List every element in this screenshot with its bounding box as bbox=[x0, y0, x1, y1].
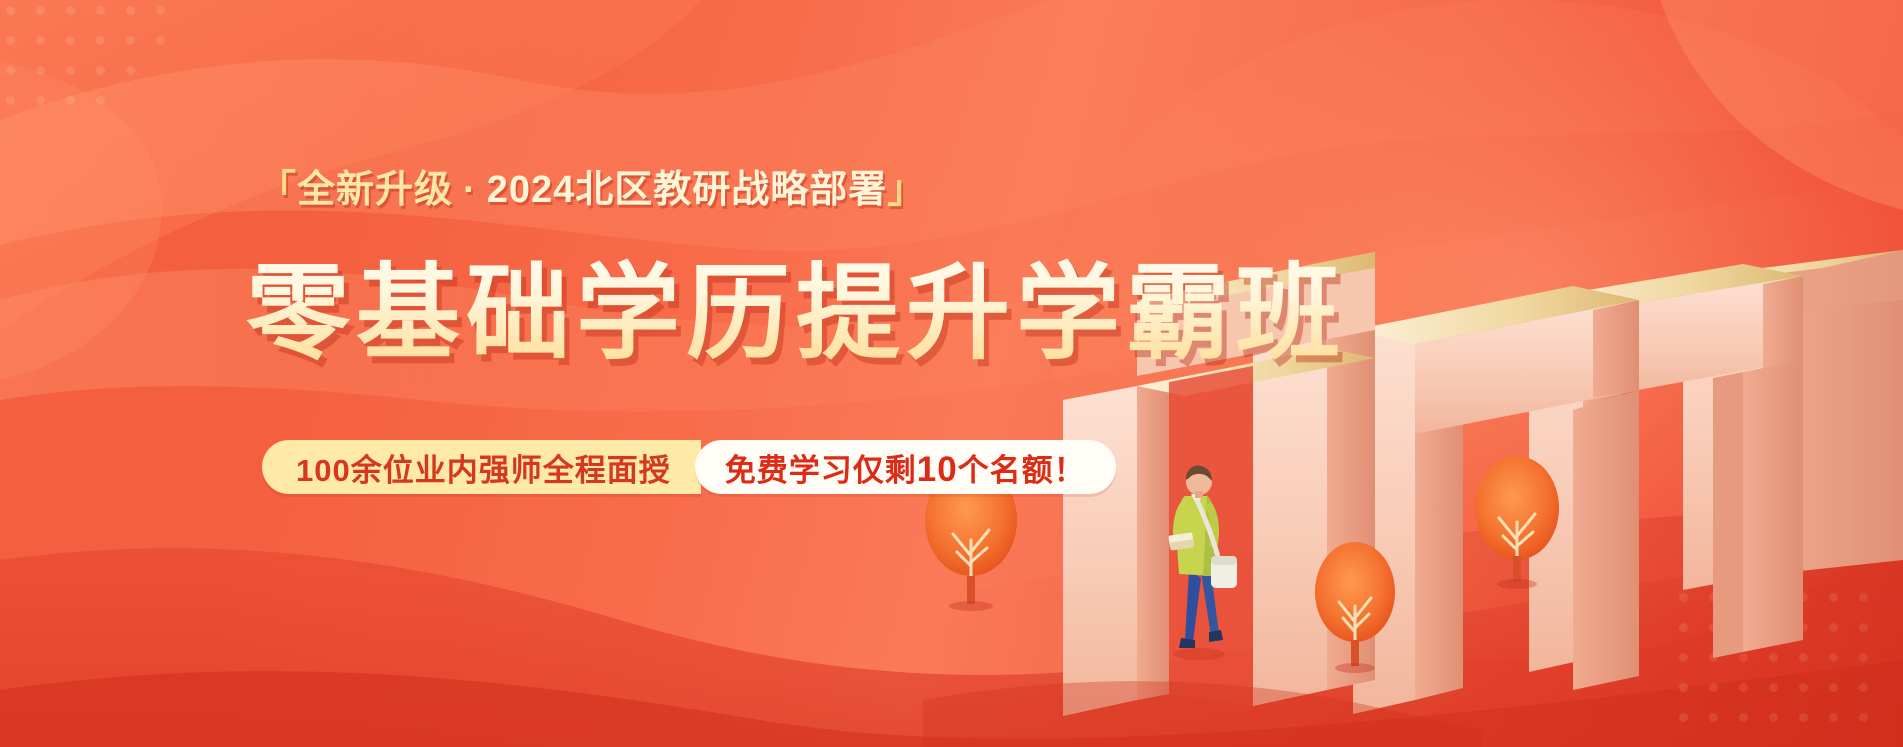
badge-instructors[interactable]: 100余位业内强师全程面授 bbox=[262, 440, 701, 494]
subtitle-separator: · bbox=[453, 169, 487, 211]
banner-copy: 「全新升级·2024北区教研战略部署」 零基础学历提升学霸班 100余位业内强师… bbox=[0, 0, 1120, 747]
badge-free-slots-number: 10 bbox=[917, 450, 958, 489]
banner-subtitle: 「全新升级·2024北区教研战略部署」 bbox=[258, 158, 926, 213]
badge-instructors-label: 100余位业内强师全程面授 bbox=[296, 445, 671, 490]
badge-free-slots[interactable]: 免费学习仅剩10个名额！ bbox=[695, 440, 1116, 494]
subtitle-close-bracket: 」 bbox=[887, 169, 926, 211]
badge-free-slots-suffix: 个名额！ bbox=[958, 453, 1086, 488]
promo-banner: 「全新升级·2024北区教研战略部署」 零基础学历提升学霸班 100余位业内强师… bbox=[0, 0, 1903, 747]
subtitle-left-text: 全新升级 bbox=[297, 169, 453, 211]
subtitle-open-bracket: 「 bbox=[258, 169, 297, 211]
badge-free-slots-label: 免费学习仅剩10个名额！ bbox=[725, 445, 1086, 490]
banner-badges: 100余位业内强师全程面授 免费学习仅剩10个名额！ bbox=[262, 440, 1116, 494]
banner-headline: 零基础学历提升学霸班 bbox=[246, 228, 1346, 379]
badge-free-slots-prefix: 免费学习仅剩 bbox=[725, 453, 917, 488]
subtitle-right-text: 2024北区教研战略部署 bbox=[487, 169, 888, 211]
